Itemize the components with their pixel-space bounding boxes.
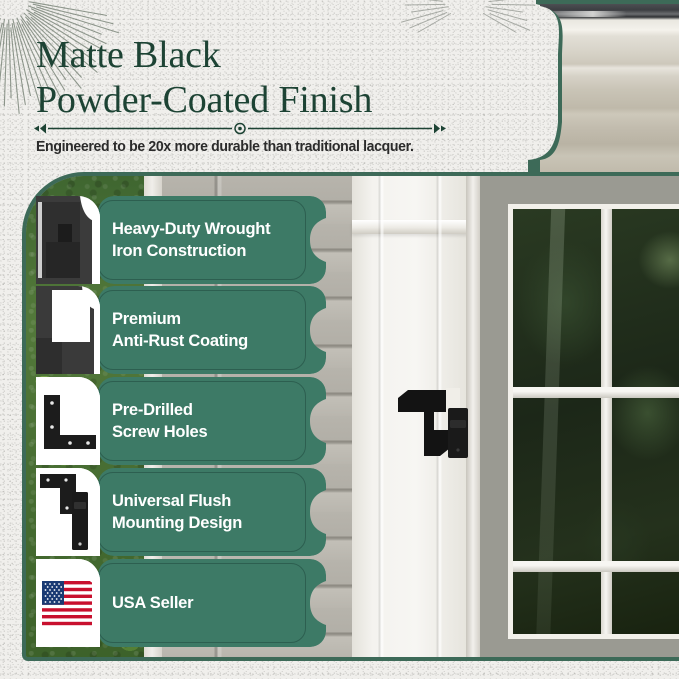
black-hinge-top xyxy=(396,386,474,463)
black-hinge-hardware-thumbnail-icon xyxy=(36,196,100,284)
flush-mount-hinge-thumbnail-icon xyxy=(36,468,100,556)
badge-plaque: Premium Anti-Rust Coating xyxy=(98,286,326,374)
badge-plaque: USA Seller xyxy=(98,559,326,647)
page-subtitle: Engineered to be 20x more durable than t… xyxy=(36,139,538,155)
product-infographic: Matte Black Powder-Coated Finish Enginee… xyxy=(0,0,679,679)
badge-plaque: Heavy-Duty Wrought Iron Construction xyxy=(98,196,326,284)
feature-label: Pre-Drilled Screw Holes xyxy=(98,399,217,443)
usa-flag-thumbnail-icon xyxy=(36,559,100,647)
feature-badge-heavy-duty-wrought-iron[interactable]: Heavy-Duty Wrought Iron Construction xyxy=(36,196,326,284)
feature-badge-premium-anti-rust[interactable]: Premium Anti-Rust Coating xyxy=(36,286,326,374)
feature-label: Premium Anti-Rust Coating xyxy=(98,308,258,352)
l-bracket-screw-holes-thumbnail-icon xyxy=(36,377,100,465)
feature-badge-usa-seller[interactable]: USA Seller xyxy=(36,559,326,647)
feature-badge-pre-drilled-screw-holes[interactable]: Pre-Drilled Screw Holes xyxy=(36,377,326,465)
feature-label: Heavy-Duty Wrought Iron Construction xyxy=(98,218,280,262)
window xyxy=(508,204,679,639)
feature-label: Universal Flush Mounting Design xyxy=(98,490,252,534)
roof-photo-inset xyxy=(528,0,679,174)
feature-badge-universal-flush-mounting[interactable]: Universal Flush Mounting Design xyxy=(36,468,326,556)
ornamental-divider xyxy=(34,122,446,135)
page-title: Matte Black Powder-Coated Finish xyxy=(36,33,506,123)
feature-label: USA Seller xyxy=(98,592,203,614)
window-muntin-horizontal-2 xyxy=(513,561,679,572)
badge-plaque: Universal Flush Mounting Design xyxy=(98,468,326,556)
anti-rust-coating-thumbnail-icon xyxy=(36,286,100,374)
window-muntin-horizontal-1 xyxy=(513,387,679,398)
badge-plaque: Pre-Drilled Screw Holes xyxy=(98,377,326,465)
